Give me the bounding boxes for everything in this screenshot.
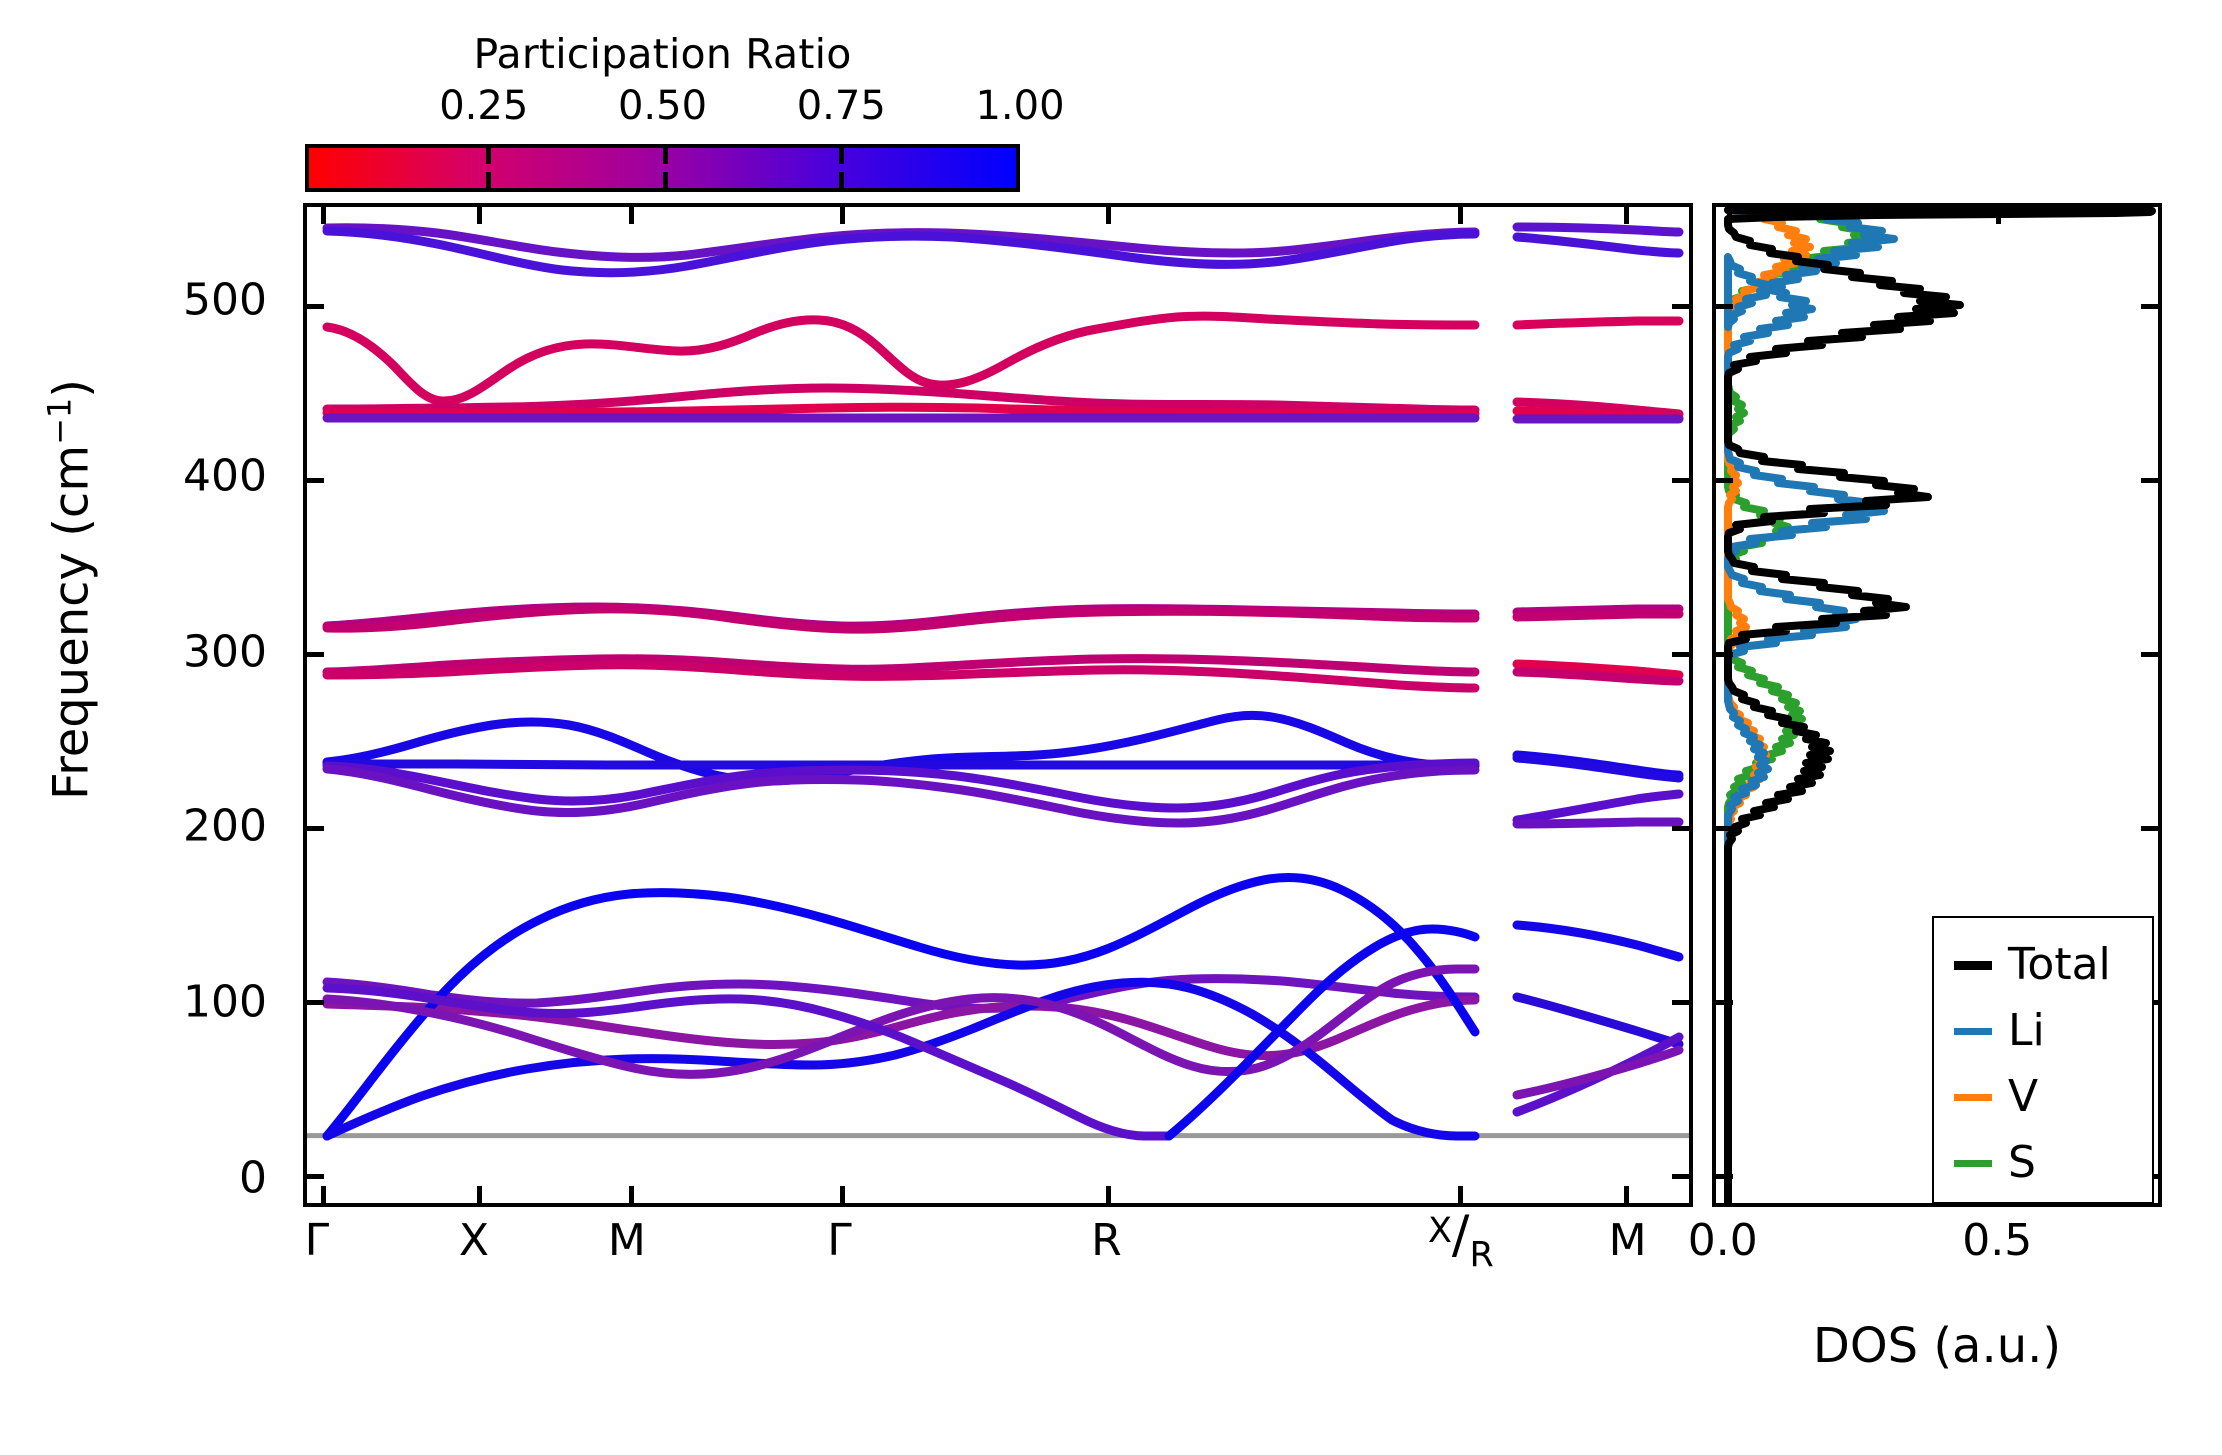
y-tick-label-200: 200 (183, 801, 267, 852)
band-curve-18b (1517, 997, 1679, 1044)
x-over-r-slash: / (1452, 1205, 1470, 1265)
legend-label-li: Li (2008, 1009, 2045, 1053)
legend-line-v (1954, 1094, 1992, 1101)
x-tick-label-m-2: M (1609, 1215, 1647, 1266)
band-curve-8 (327, 609, 1475, 629)
legend-label-total: Total (2008, 943, 2111, 987)
colorbar-tick-bottom-075 (839, 172, 844, 188)
band-x-tick-top-gamma-2 (840, 207, 845, 224)
band-x-tick-m-1 (629, 1186, 634, 1203)
band-y-tick-right-400 (1672, 478, 1689, 483)
band-curves (307, 207, 1689, 1203)
colorbar-tick-bottom-050 (663, 172, 668, 188)
dos-y-tick-300 (1716, 652, 1733, 657)
dos-x-tick-top-05 (1996, 207, 2001, 224)
band-y-tick-200 (307, 826, 324, 831)
colorbar-tick-labels: 0.25 0.50 0.75 1.00 (305, 83, 1020, 127)
colorbar-tick-label-075: 0.75 (797, 83, 886, 129)
dos-y-tick-right-300 (2141, 652, 2158, 657)
band-x-tick-top-m-1 (629, 207, 634, 224)
y-tick-label-300: 300 (183, 626, 267, 677)
band-y-tick-right-200 (1672, 826, 1689, 831)
x-over-r-denominator: R (1469, 1235, 1493, 1275)
y-tick-label-500: 500 (183, 275, 267, 326)
x-tick-label-m-1: M (608, 1215, 646, 1266)
band-y-tick-right-0 (1672, 1174, 1689, 1179)
band-x-tick-top-r (1106, 207, 1111, 224)
legend-label-v: V (2008, 1075, 2038, 1119)
x-tick-label-x: X (459, 1215, 489, 1266)
colorbar-tick-label-100: 1.00 (975, 83, 1064, 129)
colorbar-title: Participation Ratio (305, 30, 1020, 78)
dos-x-tick-label-00: 0.0 (1688, 1215, 1758, 1266)
dos-x-tick-top-00 (1727, 207, 1732, 224)
band-x-tick-top-m-2 (1624, 207, 1629, 224)
band-y-tick-300 (307, 652, 324, 657)
x-over-r-numerator: X (1428, 1211, 1452, 1251)
dos-x-tick-labels: 0.0 0.5 (1712, 1215, 2162, 1285)
band-x-tick-labels: Γ X M Γ R X/R M (303, 1215, 1693, 1320)
band-y-tick-0 (307, 1174, 324, 1179)
band-x-tick-gamma-2 (840, 1186, 845, 1203)
colorbar-tick-top-075 (839, 148, 844, 164)
legend-line-s (1954, 1160, 1992, 1167)
x-tick-label-gamma-2: Γ (827, 1215, 852, 1266)
band-plot-area (307, 207, 1689, 1203)
band-curve-20b (1517, 1050, 1679, 1095)
band-x-tick-x-over-r (1458, 1186, 1463, 1203)
band-x-tick-x (477, 1186, 482, 1203)
dos-x-tick-00 (1727, 1186, 1732, 1203)
band-x-tick-top-x (477, 207, 482, 224)
colorbar[interactable] (305, 144, 1020, 192)
dos-y-tick-0 (1716, 1174, 1733, 1179)
band-curve-13b (1517, 794, 1679, 820)
x-tick-label-r: R (1091, 1215, 1122, 1266)
band-y-tick-100 (307, 1000, 324, 1005)
y-tick-label-400: 400 (183, 451, 267, 502)
band-x-tick-top-gamma-1 (321, 207, 326, 224)
band-curve-3b (1517, 321, 1679, 325)
colorbar-tick-bottom-025 (486, 172, 491, 188)
band-curve-14b (1517, 822, 1679, 824)
band-x-tick-gamma-1 (321, 1186, 326, 1203)
colorbar-tick-top-050 (663, 148, 668, 164)
y-tick-label-0: 0 (239, 1152, 267, 1203)
band-y-tick-labels: 0 100 200 300 400 500 (0, 203, 285, 1207)
dos-legend[interactable]: Total Li V S (1932, 916, 2154, 1204)
dos-y-tick-500 (1716, 304, 1733, 309)
colorbar-tick-top-025 (486, 148, 491, 164)
legend-label-s: S (2008, 1141, 2036, 1185)
dos-y-tick-400 (1716, 478, 1733, 483)
dos-x-tick-label-05: 0.5 (1962, 1215, 2032, 1266)
band-y-tick-500 (307, 304, 324, 309)
band-y-tick-right-300 (1672, 652, 1689, 657)
band-x-tick-top-x-over-r (1458, 207, 1463, 224)
legend-entry-s: S (1934, 1130, 2152, 1196)
band-curve-1b (1517, 227, 1679, 232)
band-curve-2b (1517, 237, 1679, 253)
y-tick-label-100: 100 (183, 977, 267, 1028)
dos-y-tick-right-500 (2141, 304, 2158, 309)
band-curve-8b (1517, 614, 1679, 617)
dos-y-tick-right-200 (2141, 826, 2158, 831)
legend-line-li (1954, 1028, 1992, 1035)
legend-entry-li: Li (1934, 998, 2152, 1064)
x-tick-label-x-over-r: X/R (1428, 1209, 1494, 1261)
legend-entry-total: Total (1934, 932, 2152, 998)
colorbar-tick-label-050: 0.50 (618, 83, 707, 129)
dos-y-tick-100 (1716, 1000, 1733, 1005)
legend-entry-v: V (1934, 1064, 2152, 1130)
dos-y-tick-right-400 (2141, 478, 2158, 483)
figure-canvas: Participation Ratio 0.25 0.50 0.75 1.00 … (0, 0, 2222, 1455)
band-y-tick-right-500 (1672, 304, 1689, 309)
band-x-tick-r (1106, 1186, 1111, 1203)
band-curve-17b (1517, 925, 1679, 957)
dos-y-tick-200 (1716, 826, 1733, 831)
band-x-tick-m-2 (1624, 1186, 1629, 1203)
band-y-tick-400 (307, 478, 324, 483)
legend-line-total (1954, 961, 1992, 970)
colorbar-tick-label-025: 0.25 (439, 83, 528, 129)
band-curve-12 (327, 764, 1475, 765)
x-tick-label-gamma-1: Γ (305, 1215, 330, 1266)
band-structure-plot[interactable] (303, 203, 1693, 1207)
dos-x-axis-label: DOS (a.u.) (1712, 1318, 2162, 1374)
band-y-tick-right-100 (1672, 1000, 1689, 1005)
